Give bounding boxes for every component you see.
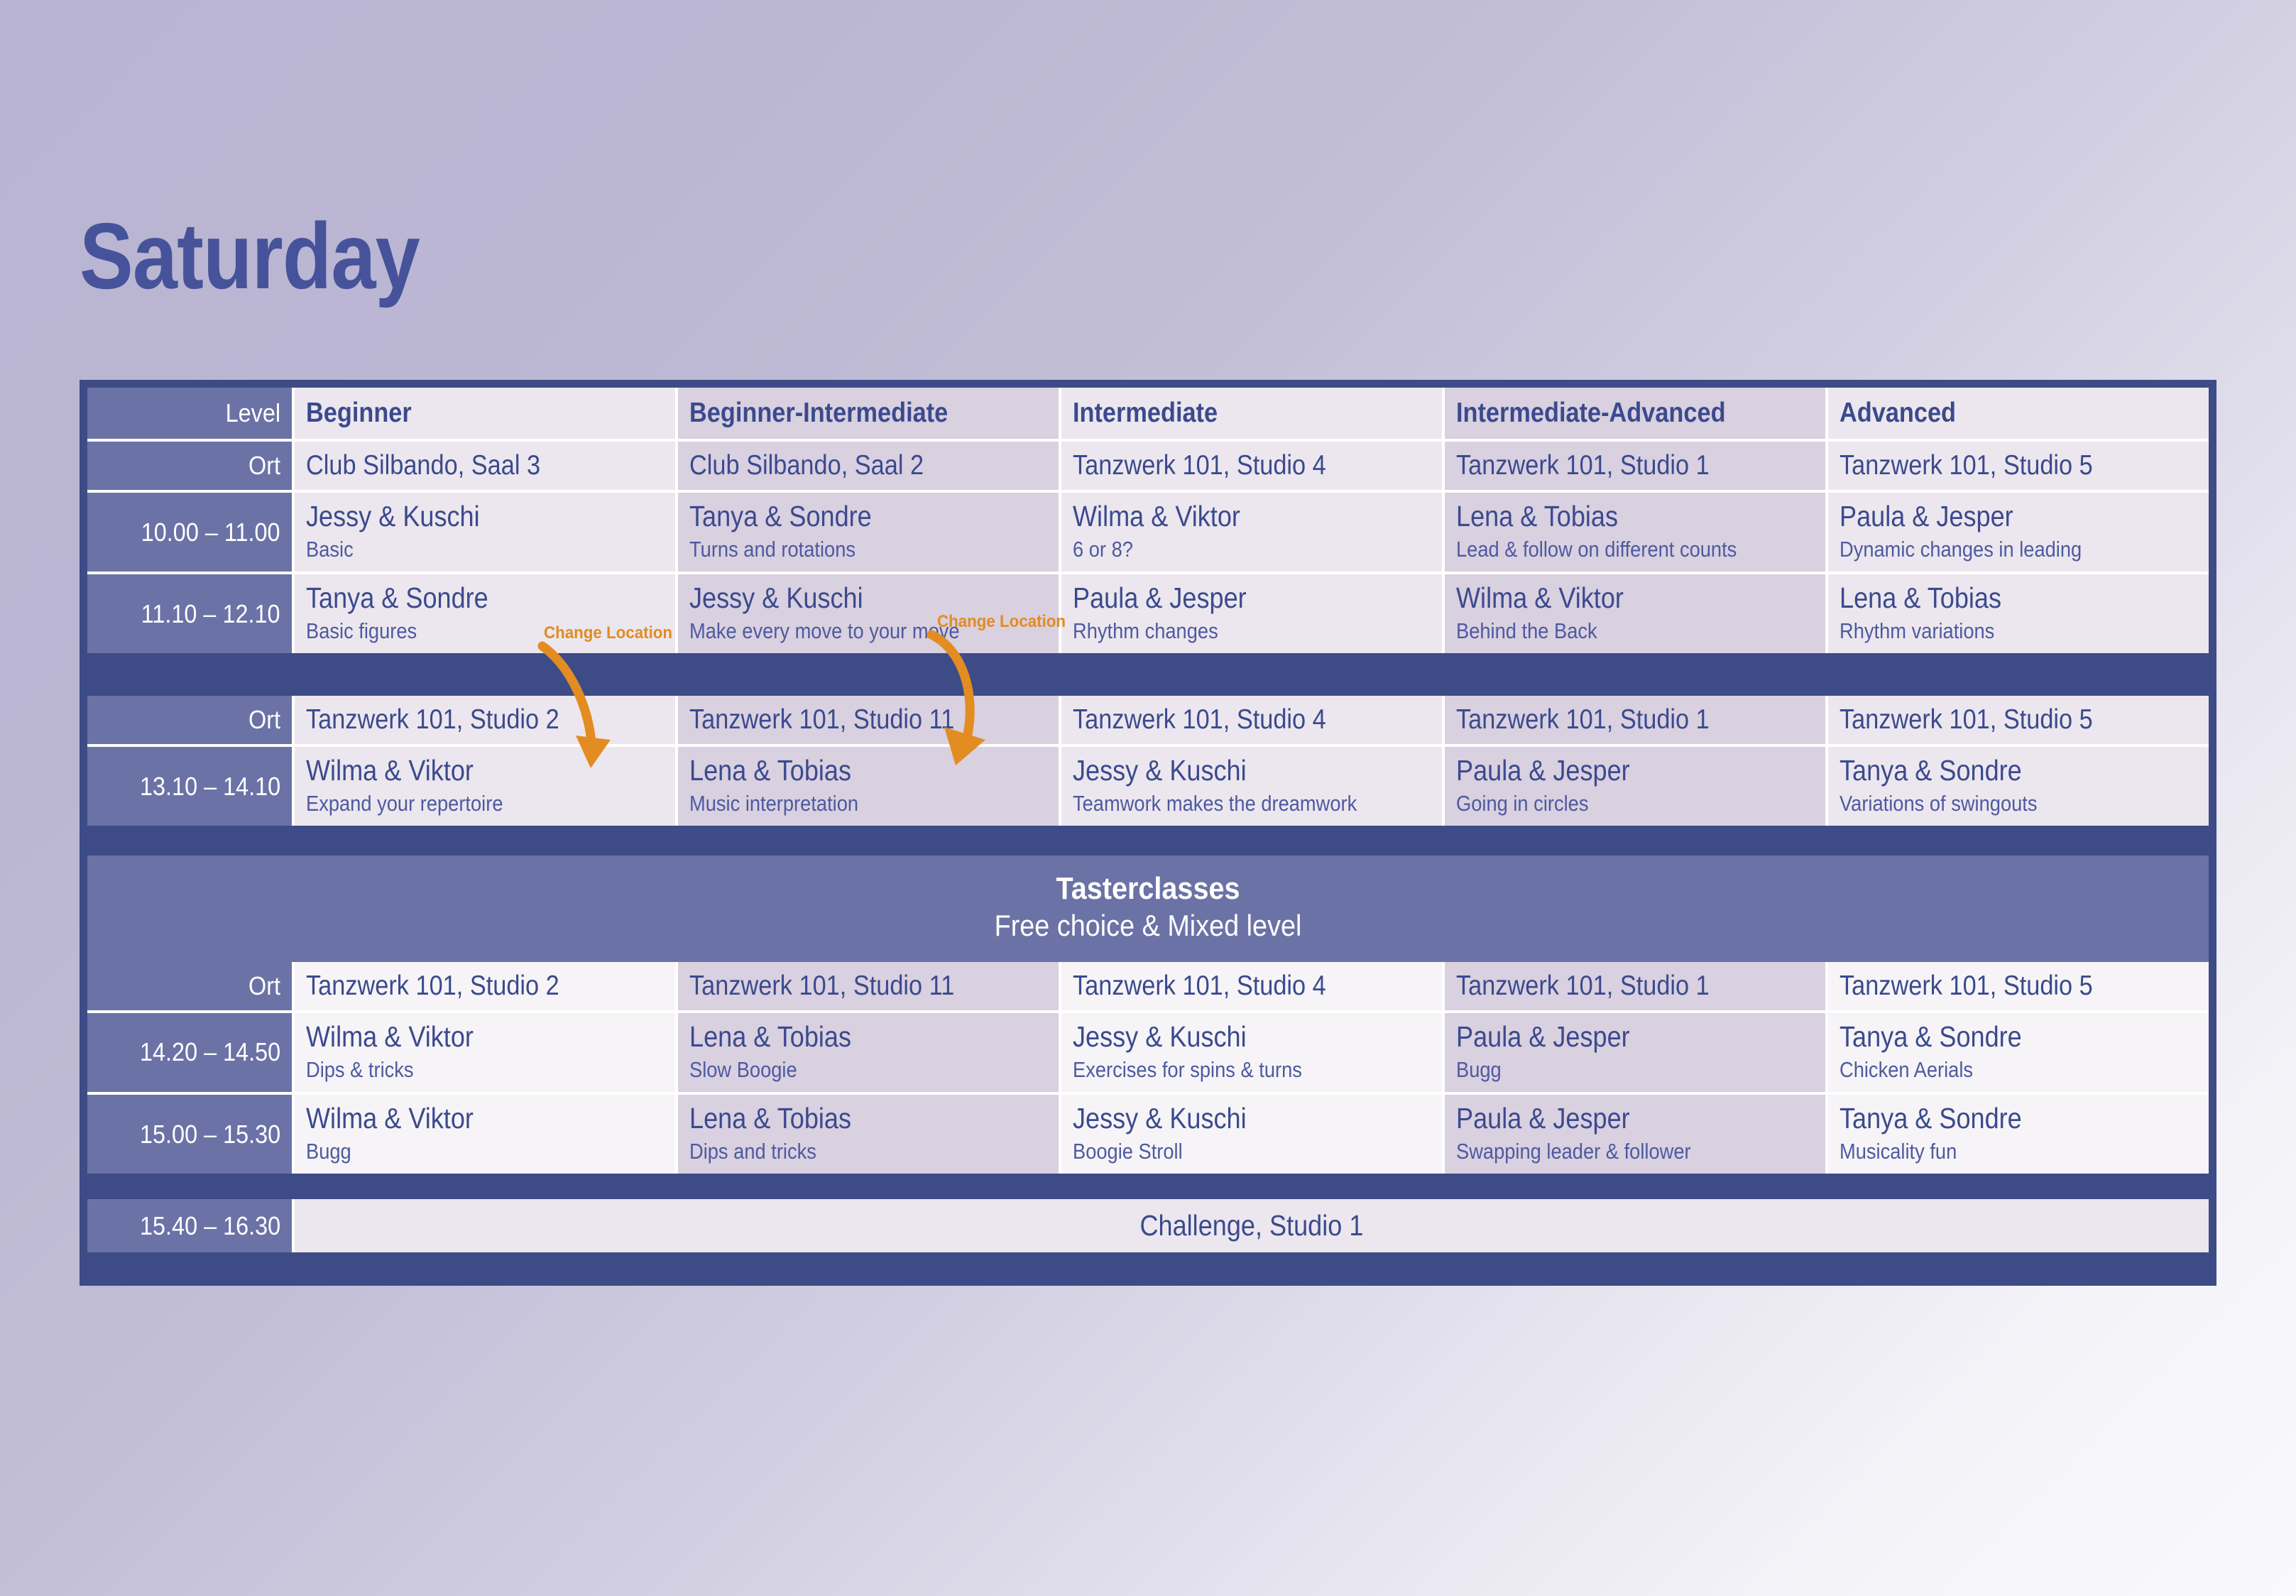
class-row: 13.10 – 14.10 Wilma & Viktor Expand your… (87, 747, 2209, 826)
class-teacher: Paula & Jesper (1073, 582, 1388, 615)
class-topic: Rhythm variations (1839, 618, 2155, 644)
class-cell[interactable]: Tanya & Sondre Basic figures (292, 574, 675, 653)
level-header-intermediate-advanced: Intermediate-Advanced (1442, 388, 1825, 442)
class-teacher: Lena & Tobias (1839, 582, 2155, 615)
location-row: Ort Tanzwerk 101, Studio 2 Tanzwerk 101,… (87, 962, 2209, 1013)
class-topic: Music interpretation (689, 790, 1005, 816)
location-cell: Tanzwerk 101, Studio 2 (292, 696, 675, 747)
location-cell: Club Silbando, Saal 2 (675, 442, 1059, 493)
time-slot: 10.00 – 11.00 (87, 493, 292, 574)
challenge-cell[interactable]: Challenge, Studio 1 (292, 1199, 2209, 1252)
class-teacher: Wilma & Viktor (1073, 501, 1388, 533)
page-title: Saturday (80, 209, 420, 303)
class-topic: Bugg (306, 1138, 621, 1164)
level-header-beginner: Beginner (292, 388, 675, 442)
location-text: Tanzwerk 101, Studio 4 (1073, 971, 1326, 1002)
class-topic: Lead & follow on different counts (1456, 536, 1771, 562)
time-slot: 11.10 – 12.10 (87, 574, 292, 653)
class-teacher: Wilma & Viktor (1456, 582, 1771, 615)
location-cell: Tanzwerk 101, Studio 11 (675, 962, 1059, 1013)
location-cell: Tanzwerk 101, Studio 4 (1059, 696, 1442, 747)
class-teacher: Paula & Jesper (1839, 501, 2155, 533)
location-text: Club Silbando, Saal 2 (689, 450, 924, 481)
class-cell[interactable]: Jessy & Kuschi Make every move to your m… (675, 574, 1059, 653)
class-cell[interactable]: Wilma & Viktor Bugg (292, 1095, 675, 1174)
level-label: Intermediate (1073, 398, 1218, 429)
class-teacher: Paula & Jesper (1456, 1021, 1771, 1054)
class-teacher: Jessy & Kuschi (306, 501, 621, 533)
time-slot: 14.20 – 14.50 (87, 1013, 292, 1095)
class-topic: Exercises for spins & turns (1073, 1056, 1388, 1083)
location-text: Club Silbando, Saal 3 (306, 450, 540, 481)
class-cell[interactable]: Jessy & Kuschi Boogie Stroll (1059, 1095, 1442, 1174)
class-cell[interactable]: Tanya & Sondre Chicken Aerials (1825, 1013, 2209, 1095)
location-cell: Club Silbando, Saal 3 (292, 442, 675, 493)
class-row: 11.10 – 12.10 Tanya & Sondre Basic figur… (87, 574, 2209, 653)
location-cell: Tanzwerk 101, Studio 1 (1442, 962, 1825, 1013)
class-cell[interactable]: Lena & Tobias Lead & follow on different… (1442, 493, 1825, 574)
level-row-label: Level (87, 388, 292, 442)
time-slot: 15.40 – 16.30 (87, 1199, 292, 1252)
class-topic: Expand your repertoire (306, 790, 621, 816)
class-cell[interactable]: Lena & Tobias Music interpretation (675, 747, 1059, 826)
class-teacher: Wilma & Viktor (306, 755, 621, 787)
class-topic: Dips and tricks (689, 1138, 1005, 1164)
class-teacher: Tanya & Sondre (1839, 1103, 2155, 1135)
class-cell[interactable]: Wilma & Viktor 6 or 8? (1059, 493, 1442, 574)
class-cell[interactable]: Paula & Jesper Dynamic changes in leadin… (1825, 493, 2209, 574)
class-topic: Dynamic changes in leading (1839, 536, 2155, 562)
class-cell[interactable]: Paula & Jesper Going in circles (1442, 747, 1825, 826)
location-row: Ort Club Silbando, Saal 3 Club Silbando,… (87, 442, 2209, 493)
class-topic: Bugg (1456, 1056, 1771, 1083)
class-cell[interactable]: Paula & Jesper Bugg (1442, 1013, 1825, 1095)
tasterclasses-banner: Tasterclasses Free choice & Mixed level (87, 856, 2209, 962)
tasterclasses-subtitle: Free choice & Mixed level (193, 908, 2102, 944)
location-text: Tanzwerk 101, Studio 1 (1456, 971, 1710, 1002)
class-teacher: Tanya & Sondre (1839, 1021, 2155, 1054)
class-teacher: Jessy & Kuschi (1073, 1021, 1388, 1054)
class-teacher: Tanya & Sondre (689, 501, 1005, 533)
class-topic: Slow Boogie (689, 1056, 1005, 1083)
location-text: Tanzwerk 101, Studio 4 (1073, 450, 1326, 481)
class-row: 15.00 – 15.30 Wilma & Viktor Bugg Lena &… (87, 1095, 2209, 1174)
location-row: Ort Tanzwerk 101, Studio 2 Tanzwerk 101,… (87, 696, 2209, 747)
time-slot: 15.00 – 15.30 (87, 1095, 292, 1174)
class-cell[interactable]: Paula & Jesper Rhythm changes (1059, 574, 1442, 653)
location-text: Tanzwerk 101, Studio 4 (1073, 704, 1326, 736)
class-cell[interactable]: Paula & Jesper Swapping leader & followe… (1442, 1095, 1825, 1174)
location-text: Tanzwerk 101, Studio 2 (306, 971, 559, 1002)
location-text: Tanzwerk 101, Studio 2 (306, 704, 559, 736)
location-row-label: Ort (87, 962, 292, 1013)
class-row: 14.20 – 14.50 Wilma & Viktor Dips & tric… (87, 1013, 2209, 1095)
class-teacher: Paula & Jesper (1456, 755, 1771, 787)
class-teacher: Wilma & Viktor (306, 1021, 621, 1054)
section-separator (87, 1174, 2209, 1199)
challenge-label: Challenge, Studio 1 (1140, 1209, 1364, 1242)
location-text: Tanzwerk 101, Studio 5 (1839, 704, 2093, 736)
location-text: Tanzwerk 101, Studio 11 (689, 971, 954, 1002)
class-topic: Boogie Stroll (1073, 1138, 1388, 1164)
class-topic: Behind the Back (1456, 618, 1771, 644)
level-header-intermediate: Intermediate (1059, 388, 1442, 442)
class-cell[interactable]: Lena & Tobias Rhythm variations (1825, 574, 2209, 653)
time-slot: 13.10 – 14.10 (87, 747, 292, 826)
class-teacher: Lena & Tobias (689, 755, 1005, 787)
level-label: Advanced (1839, 398, 1956, 429)
schedule-table: Level Beginner Beginner-Intermediate Int… (80, 380, 2216, 1286)
class-cell[interactable]: Wilma & Viktor Behind the Back (1442, 574, 1825, 653)
level-label: Beginner (306, 398, 412, 429)
class-topic: 6 or 8? (1073, 536, 1388, 562)
class-teacher: Wilma & Viktor (306, 1103, 621, 1135)
location-cell: Tanzwerk 101, Studio 1 (1442, 696, 1825, 747)
challenge-row: 15.40 – 16.30 Challenge, Studio 1 (87, 1199, 2209, 1252)
location-text: Tanzwerk 101, Studio 11 (689, 704, 954, 736)
location-cell: Tanzwerk 101, Studio 4 (1059, 442, 1442, 493)
class-teacher: Jessy & Kuschi (1073, 755, 1388, 787)
class-cell[interactable]: Tanya & Sondre Musicality fun (1825, 1095, 2209, 1174)
location-text: Tanzwerk 101, Studio 5 (1839, 450, 2093, 481)
section-separator (87, 1252, 2209, 1278)
class-teacher: Jessy & Kuschi (1073, 1103, 1388, 1135)
class-teacher: Paula & Jesper (1456, 1103, 1771, 1135)
class-teacher: Jessy & Kuschi (689, 582, 1005, 615)
class-cell[interactable]: Wilma & Viktor Dips & tricks (292, 1013, 675, 1095)
class-cell[interactable]: Tanya & Sondre Variations of swingouts (1825, 747, 2209, 826)
location-cell: Tanzwerk 101, Studio 1 (1442, 442, 1825, 493)
class-topic: Rhythm changes (1073, 618, 1388, 644)
location-cell: Tanzwerk 101, Studio 4 (1059, 962, 1442, 1013)
class-cell[interactable]: Jessy & Kuschi Teamwork makes the dreamw… (1059, 747, 1442, 826)
class-cell[interactable]: Lena & Tobias Dips and tricks (675, 1095, 1059, 1174)
level-label: Beginner-Intermediate (689, 398, 948, 429)
level-header-row: Level Beginner Beginner-Intermediate Int… (87, 388, 2209, 442)
class-teacher: Tanya & Sondre (306, 582, 621, 615)
class-topic: Dips & tricks (306, 1056, 621, 1083)
location-row-label: Ort (87, 442, 292, 493)
class-cell[interactable]: Jessy & Kuschi Exercises for spins & tur… (1059, 1013, 1442, 1095)
class-teacher: Tanya & Sondre (1839, 755, 2155, 787)
location-cell: Tanzwerk 101, Studio 11 (675, 696, 1059, 747)
class-teacher: Lena & Tobias (689, 1103, 1005, 1135)
location-row-label: Ort (87, 696, 292, 747)
class-topic: Turns and rotations (689, 536, 1005, 562)
schedule-block-afternoon: Ort Tanzwerk 101, Studio 2 Tanzwerk 101,… (87, 696, 2209, 826)
location-cell: Tanzwerk 101, Studio 2 (292, 962, 675, 1013)
class-topic: Basic figures (306, 618, 621, 644)
section-separator (87, 653, 2209, 696)
class-topic: Make every move to your move (689, 618, 1005, 644)
class-cell[interactable]: Tanya & Sondre Turns and rotations (675, 493, 1059, 574)
class-topic: Swapping leader & follower (1456, 1138, 1771, 1164)
location-cell: Tanzwerk 101, Studio 5 (1825, 442, 2209, 493)
location-text: Tanzwerk 101, Studio 1 (1456, 704, 1710, 736)
class-topic: Chicken Aerials (1839, 1056, 2155, 1083)
class-cell[interactable]: Jessy & Kuschi Basic (292, 493, 675, 574)
class-topic: Teamwork makes the dreamwork (1073, 790, 1388, 816)
location-cell: Tanzwerk 101, Studio 5 (1825, 962, 2209, 1013)
location-text: Tanzwerk 101, Studio 5 (1839, 971, 2093, 1002)
class-topic: Going in circles (1456, 790, 1771, 816)
location-text: Tanzwerk 101, Studio 1 (1456, 450, 1710, 481)
class-cell[interactable]: Lena & Tobias Slow Boogie (675, 1013, 1059, 1095)
level-label: Intermediate-Advanced (1456, 398, 1726, 429)
class-teacher: Lena & Tobias (1456, 501, 1771, 533)
class-topic: Musicality fun (1839, 1138, 2155, 1164)
class-row: 10.00 – 11.00 Jessy & Kuschi Basic Tanya… (87, 493, 2209, 574)
tasterclasses-title: Tasterclasses (193, 871, 2102, 906)
schedule-block-tasterclasses: Ort Tanzwerk 101, Studio 2 Tanzwerk 101,… (87, 962, 2209, 1174)
location-cell: Tanzwerk 101, Studio 5 (1825, 696, 2209, 747)
section-separator (87, 826, 2209, 856)
schedule-block-morning: Level Beginner Beginner-Intermediate Int… (87, 388, 2209, 653)
class-cell[interactable]: Wilma & Viktor Expand your repertoire (292, 747, 675, 826)
level-header-advanced: Advanced (1825, 388, 2209, 442)
class-topic: Variations of swingouts (1839, 790, 2155, 816)
level-header-beginner-intermediate: Beginner-Intermediate (675, 388, 1059, 442)
class-topic: Basic (306, 536, 621, 562)
class-teacher: Lena & Tobias (689, 1021, 1005, 1054)
